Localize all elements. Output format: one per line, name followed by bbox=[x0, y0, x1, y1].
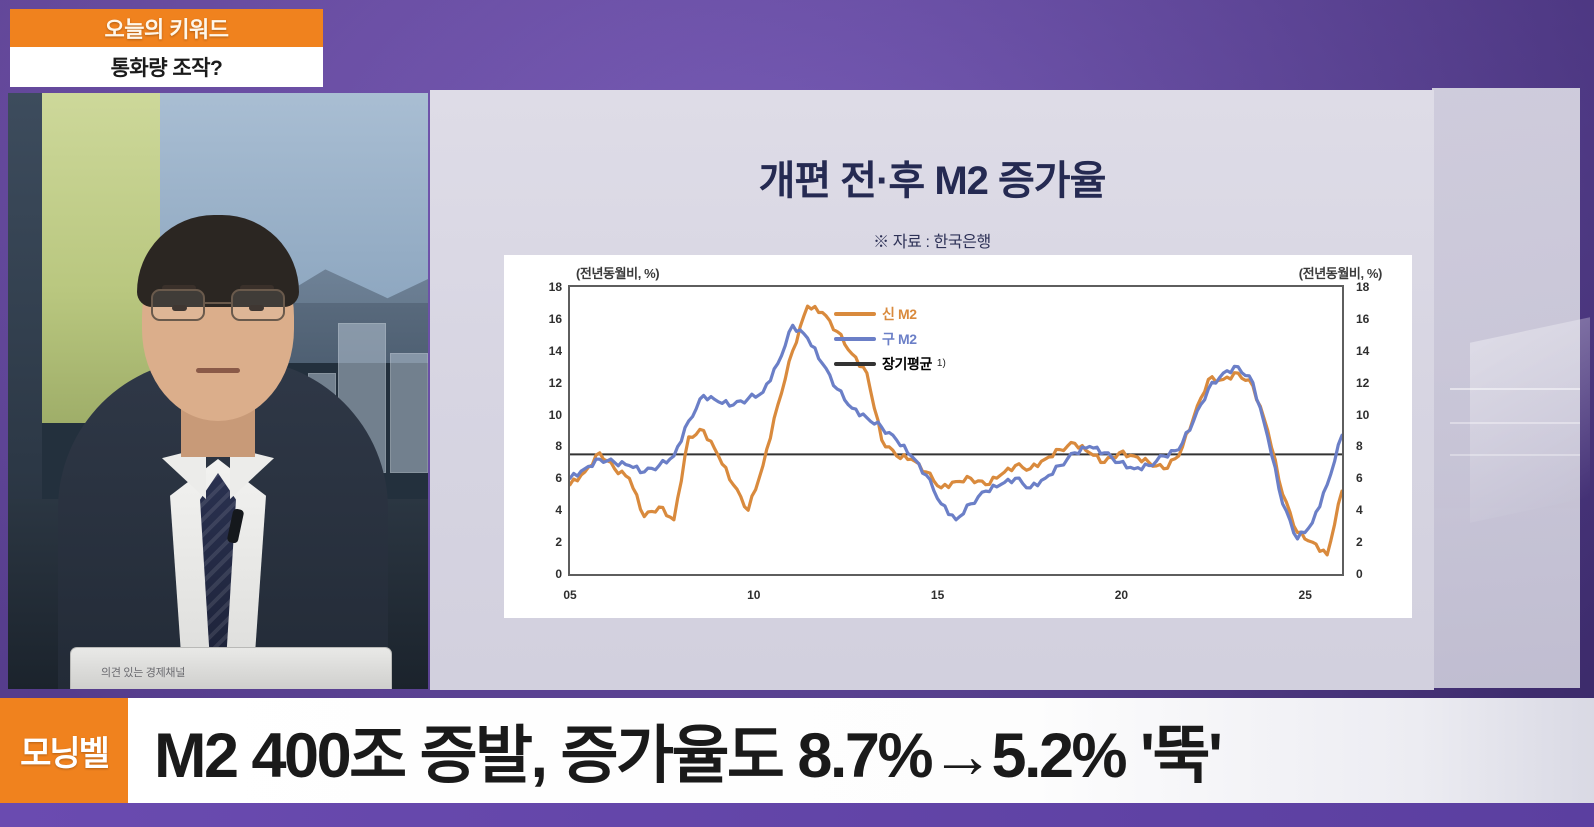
y-tick-left-16: 16 bbox=[534, 312, 562, 326]
chart-figure: (전년동월비, %) (전년동월비, %) 002244668810101212… bbox=[504, 255, 1412, 618]
y-tick-right-14: 14 bbox=[1356, 344, 1384, 358]
y-tick-left-2: 2 bbox=[534, 535, 562, 549]
y-tick-right-2: 2 bbox=[1356, 535, 1384, 549]
x-tick-20: 20 bbox=[1115, 588, 1128, 602]
anchor-mouth bbox=[196, 368, 240, 373]
y-tick-left-4: 4 bbox=[534, 503, 562, 517]
legend-label-old-m2: 구 M2 bbox=[882, 329, 917, 349]
glasses-bridge bbox=[205, 302, 231, 304]
legend-label-new-m2: 신 M2 bbox=[882, 304, 917, 324]
y-tick-left-8: 8 bbox=[534, 439, 562, 453]
laptop: 의견 있는 경제채널 bbox=[70, 647, 392, 689]
legend-swatch-new-m2 bbox=[834, 312, 876, 316]
y-tick-right-0: 0 bbox=[1356, 567, 1384, 581]
studio-desk bbox=[1470, 317, 1590, 523]
plot-area bbox=[568, 285, 1344, 576]
keyword-plate-header: 오늘의 키워드 bbox=[10, 9, 323, 47]
chart-title: 개편 전·후 M2 증가율 bbox=[430, 148, 1434, 206]
legend-label-long-average: 장기평균 bbox=[882, 354, 932, 374]
glasses-lens-right bbox=[231, 289, 285, 321]
legend-item-old-m2: 구 M2 bbox=[834, 326, 946, 351]
y-tick-right-18: 18 bbox=[1356, 280, 1384, 294]
chart-card: 개편 전·후 M2 증가율 ※ 자료 : 한국은행 (전년동월비, %) (전년… bbox=[430, 90, 1434, 690]
y-tick-right-10: 10 bbox=[1356, 408, 1384, 422]
y-tick-right-12: 12 bbox=[1356, 376, 1384, 390]
lower-third-banner: 모닝벨 M2 400조 증발, 증가율도 8.7%→5.2% '뚝' bbox=[0, 698, 1594, 803]
y-tick-right-8: 8 bbox=[1356, 439, 1384, 453]
chart-source-note: ※ 자료 : 한국은행 bbox=[430, 228, 1434, 252]
x-tick-15: 15 bbox=[931, 588, 944, 602]
x-tick-05: 05 bbox=[563, 588, 576, 602]
y-tick-left-12: 12 bbox=[534, 376, 562, 390]
y-tick-left-14: 14 bbox=[534, 344, 562, 358]
program-badge: 모닝벨 bbox=[0, 698, 128, 803]
headline-container: M2 400조 증발, 증가율도 8.7%→5.2% '뚝' bbox=[128, 698, 1594, 803]
keyword-plate: 오늘의 키워드 통화량 조작? bbox=[10, 9, 323, 87]
y-tick-left-0: 0 bbox=[534, 567, 562, 581]
y-tick-right-6: 6 bbox=[1356, 471, 1384, 485]
anchor-video-panel: 의견 있는 경제채널 bbox=[8, 93, 428, 689]
y-tick-left-6: 6 bbox=[534, 471, 562, 485]
lower-third-strip bbox=[0, 803, 1594, 827]
y-tick-right-16: 16 bbox=[1356, 312, 1384, 326]
y-tick-left-18: 18 bbox=[534, 280, 562, 294]
x-tick-25: 25 bbox=[1299, 588, 1312, 602]
anchor-glasses bbox=[151, 289, 285, 323]
y-axis-unit-left: (전년동월비, %) bbox=[576, 263, 659, 282]
legend-footnote-marker: 1) bbox=[937, 358, 946, 369]
legend-item-long-average: 장기평균 1) bbox=[834, 351, 946, 376]
skyline-building bbox=[390, 353, 428, 473]
headline-text: M2 400조 증발, 증가율도 8.7%→5.2% '뚝' bbox=[154, 705, 1220, 796]
legend-item-new-m2: 신 M2 bbox=[834, 301, 946, 326]
broadcast-stage: 오늘의 키워드 통화량 조작? 의견 있는 경제채널 bbox=[0, 0, 1594, 827]
laptop-caption: 의견 있는 경제채널 bbox=[101, 664, 185, 680]
legend-swatch-long-average bbox=[834, 362, 876, 366]
legend-swatch-old-m2 bbox=[834, 337, 876, 341]
keyword-plate-subject: 통화량 조작? bbox=[10, 47, 323, 87]
glasses-lens-left bbox=[151, 289, 205, 321]
y-tick-right-4: 4 bbox=[1356, 503, 1384, 517]
x-tick-10: 10 bbox=[747, 588, 760, 602]
y-tick-left-10: 10 bbox=[534, 408, 562, 422]
chart-lines bbox=[570, 287, 1342, 574]
chart-legend: 신 M2 구 M2 장기평균 1) bbox=[834, 301, 946, 376]
